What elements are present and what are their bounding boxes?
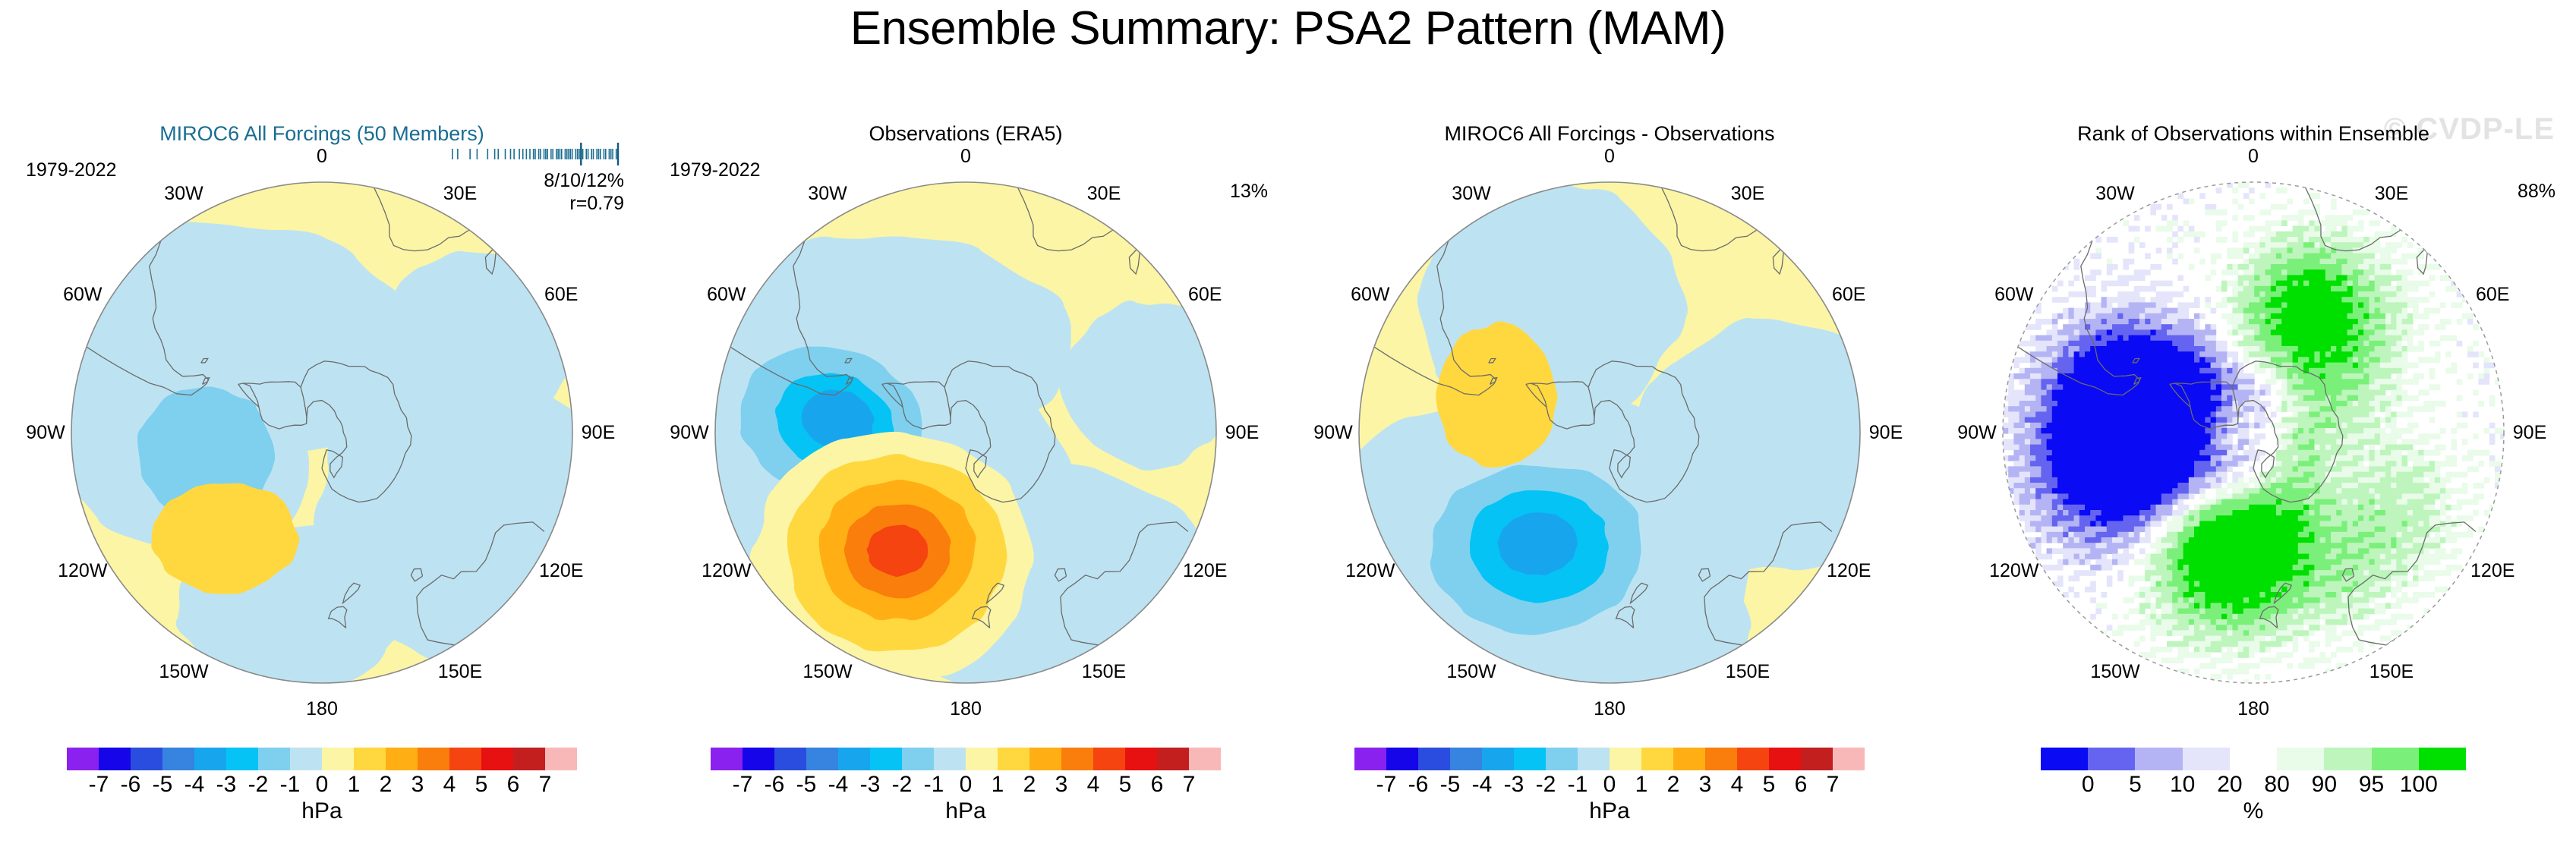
rank-cell bbox=[2336, 548, 2342, 554]
rank-cell bbox=[2309, 603, 2315, 609]
rank-cell bbox=[2243, 488, 2250, 494]
rank-cell bbox=[2369, 499, 2375, 505]
rank-cell bbox=[2057, 384, 2064, 390]
rank-cell bbox=[2254, 505, 2260, 511]
rank-cell bbox=[2413, 466, 2419, 472]
rank-cell bbox=[2347, 269, 2354, 276]
rank-cell bbox=[2380, 313, 2386, 320]
rank-cell bbox=[2276, 231, 2282, 238]
map-plot bbox=[700, 167, 1231, 698]
colorbar-tick-label: 3 bbox=[411, 772, 424, 798]
rank-cell bbox=[2369, 515, 2375, 521]
rank-cell bbox=[2259, 286, 2265, 292]
rank-cell bbox=[2293, 390, 2299, 396]
rank-cell bbox=[2095, 379, 2101, 385]
rank-cell bbox=[2123, 439, 2129, 445]
colorbar-segment bbox=[1514, 748, 1546, 770]
rank-cell bbox=[2199, 472, 2206, 478]
rank-cell bbox=[2238, 445, 2244, 451]
rank-cell bbox=[2325, 510, 2332, 516]
rank-cell bbox=[2161, 297, 2168, 303]
rank-cell bbox=[2129, 406, 2135, 412]
rank-cell bbox=[2265, 505, 2272, 511]
rank-cell bbox=[2052, 423, 2058, 429]
rank-cell bbox=[2211, 341, 2217, 347]
rank-cell bbox=[2265, 537, 2272, 543]
rank-cell bbox=[2243, 450, 2250, 456]
rank-cell bbox=[2243, 247, 2250, 253]
rank-cell bbox=[2325, 275, 2332, 281]
rank-cell bbox=[2331, 363, 2337, 369]
rank-cell bbox=[2320, 341, 2326, 347]
rank-cell bbox=[2145, 527, 2151, 533]
rank-cell bbox=[2035, 363, 2042, 369]
colorbar-tick-label: 5 bbox=[1119, 772, 1132, 798]
rank-cell bbox=[2391, 395, 2397, 401]
rank-cell bbox=[2423, 515, 2429, 521]
rank-cell bbox=[2101, 554, 2108, 560]
rank-cell bbox=[2129, 488, 2135, 494]
rank-cell bbox=[2254, 587, 2260, 593]
rank-cell bbox=[2396, 461, 2402, 467]
rank-cell bbox=[2243, 242, 2250, 248]
rank-cell bbox=[2259, 597, 2265, 603]
rank-cell bbox=[2287, 472, 2293, 478]
rank-cell bbox=[2145, 395, 2151, 401]
rank-cell bbox=[2293, 423, 2299, 429]
rank-cell bbox=[2298, 477, 2304, 483]
rank-cell bbox=[2353, 308, 2359, 314]
rank-cell bbox=[2435, 461, 2441, 467]
rank-cell bbox=[2287, 324, 2293, 330]
rank-cell bbox=[2189, 341, 2195, 347]
rank-cell bbox=[2473, 493, 2479, 499]
rank-cell bbox=[2391, 483, 2397, 489]
rank-cell bbox=[2375, 548, 2381, 554]
rank-cell bbox=[2085, 483, 2091, 489]
rank-cell bbox=[2041, 521, 2047, 527]
rank-cell bbox=[2123, 461, 2129, 467]
rank-cell bbox=[2358, 226, 2364, 232]
rank-cell bbox=[2095, 499, 2101, 505]
rank-cell bbox=[2353, 237, 2359, 243]
rank-cell bbox=[2052, 521, 2058, 527]
rank-cell bbox=[2112, 532, 2118, 538]
rank-cell bbox=[2079, 411, 2086, 417]
colorbar-tick-label: -3 bbox=[1504, 772, 1524, 798]
rank-cell bbox=[2232, 253, 2238, 260]
rank-cell bbox=[2183, 537, 2190, 543]
rank-cell bbox=[2112, 281, 2118, 287]
rank-cell bbox=[2134, 461, 2140, 467]
rank-cell bbox=[2396, 341, 2402, 347]
rank-cell bbox=[2385, 515, 2392, 521]
rank-cell bbox=[2227, 581, 2233, 587]
rank-cell bbox=[2189, 231, 2195, 238]
rank-cell bbox=[2325, 603, 2332, 609]
rank-cell bbox=[2314, 368, 2320, 374]
rank-cell bbox=[2057, 428, 2064, 434]
rank-cell bbox=[2347, 351, 2354, 357]
rank-cell bbox=[2129, 499, 2135, 505]
rank-cell bbox=[2363, 253, 2369, 260]
rank-cell bbox=[2145, 351, 2151, 357]
rank-cell bbox=[2150, 411, 2156, 417]
rank-cell bbox=[2216, 346, 2222, 352]
rank-cell bbox=[2347, 461, 2354, 467]
rank-cell bbox=[2156, 499, 2162, 505]
rank-cell bbox=[2243, 499, 2250, 505]
rank-cell bbox=[2107, 559, 2113, 565]
rank-cell bbox=[2347, 411, 2354, 417]
rank-cell bbox=[2243, 417, 2250, 423]
rank-cell bbox=[2129, 521, 2135, 527]
rank-cell bbox=[2396, 324, 2402, 330]
rank-cell bbox=[2183, 548, 2190, 554]
rank-cell bbox=[2341, 384, 2347, 390]
rank-cell bbox=[2134, 324, 2140, 330]
rank-cell bbox=[2238, 423, 2244, 429]
rank-cell bbox=[2325, 335, 2332, 342]
rank-cell bbox=[2271, 559, 2277, 565]
rank-cell bbox=[2391, 575, 2397, 581]
rank-cell bbox=[2271, 488, 2277, 494]
rank-cell bbox=[2156, 226, 2162, 232]
rank-cell bbox=[2271, 575, 2277, 581]
rank-cell bbox=[2369, 302, 2375, 308]
rank-cell bbox=[2243, 423, 2250, 429]
rank-cell bbox=[2271, 237, 2277, 243]
rank-cell bbox=[2134, 363, 2140, 369]
rank-cell bbox=[2199, 341, 2206, 347]
rank-cell bbox=[2358, 570, 2364, 576]
rank-cell bbox=[2156, 493, 2162, 499]
rank-cell bbox=[2249, 264, 2255, 270]
rank-cell bbox=[2145, 269, 2151, 276]
rank-cell bbox=[2030, 543, 2036, 549]
rank-cell bbox=[2189, 428, 2195, 434]
rank-cell bbox=[2194, 565, 2200, 571]
rank-cell bbox=[2396, 291, 2402, 298]
rank-cell bbox=[2183, 368, 2190, 374]
rank-cell bbox=[2353, 455, 2359, 461]
rank-cell bbox=[2117, 363, 2124, 369]
rank-cell bbox=[2429, 384, 2436, 390]
rank-cell bbox=[2232, 231, 2238, 238]
rank-cell bbox=[2238, 527, 2244, 533]
rank-cell bbox=[2249, 384, 2255, 390]
rank-cell bbox=[2156, 483, 2162, 489]
rank-cell bbox=[2353, 313, 2359, 320]
rank-cell bbox=[2298, 247, 2304, 253]
rank-cell bbox=[2161, 597, 2168, 603]
rank-cell bbox=[2402, 521, 2408, 527]
rank-cell bbox=[2035, 373, 2042, 379]
rank-cell bbox=[2150, 472, 2156, 478]
rank-cell bbox=[2216, 483, 2222, 489]
rank-cell bbox=[2325, 231, 2332, 238]
rank-cell bbox=[2314, 259, 2320, 265]
rank-cell bbox=[2259, 433, 2265, 439]
rank-cell bbox=[2259, 537, 2265, 543]
rank-cell bbox=[2353, 259, 2359, 265]
rank-cell bbox=[2353, 390, 2359, 396]
rank-cell bbox=[2363, 308, 2369, 314]
rank-cell bbox=[2363, 554, 2369, 560]
rank-cell bbox=[2041, 423, 2047, 429]
rank-cell bbox=[2320, 445, 2326, 451]
rank-cell bbox=[2336, 313, 2342, 320]
rank-cell bbox=[2074, 291, 2080, 298]
rank-cell bbox=[2150, 609, 2156, 615]
rank-cell bbox=[2167, 532, 2173, 538]
rank-cell bbox=[2347, 537, 2354, 543]
rank-cell bbox=[2095, 461, 2101, 467]
rank-cell bbox=[2259, 603, 2265, 609]
rank-cell bbox=[2232, 565, 2238, 571]
colorbar-tick-label: -1 bbox=[280, 772, 301, 798]
rank-cell bbox=[2303, 346, 2310, 352]
rank-cell bbox=[2407, 286, 2414, 292]
rank-cell bbox=[2325, 368, 2332, 374]
rank-cell bbox=[2183, 521, 2190, 527]
rank-cell bbox=[2309, 341, 2315, 347]
rank-cell bbox=[2369, 505, 2375, 511]
rank-cell bbox=[2265, 401, 2272, 407]
rank-cell bbox=[2095, 477, 2101, 483]
colorbar-tick-label: -6 bbox=[121, 772, 141, 798]
rank-cell bbox=[2309, 253, 2315, 260]
rank-cell bbox=[2074, 488, 2080, 494]
rank-cell bbox=[2063, 499, 2069, 505]
rank-cell bbox=[2074, 308, 2080, 314]
rank-cell bbox=[2085, 493, 2091, 499]
rank-cell bbox=[2429, 433, 2436, 439]
rank-cell bbox=[2107, 324, 2113, 330]
rank-cell bbox=[2298, 297, 2304, 303]
rank-cell bbox=[2341, 281, 2347, 287]
rank-cell bbox=[2019, 417, 2026, 423]
rank-cell bbox=[2194, 302, 2200, 308]
rank-cell bbox=[2019, 373, 2026, 379]
rank-cell bbox=[2249, 341, 2255, 347]
rank-cell bbox=[2375, 401, 2381, 407]
colorbar-segment bbox=[449, 748, 481, 770]
rank-cell bbox=[2134, 313, 2140, 320]
rank-cell bbox=[2314, 570, 2320, 576]
rank-cell bbox=[2112, 559, 2118, 565]
rank-cell bbox=[2375, 505, 2381, 511]
rank-cell bbox=[2085, 373, 2091, 379]
rank-cell bbox=[2117, 335, 2124, 342]
rank-cell bbox=[2129, 308, 2135, 314]
rank-cell bbox=[2025, 455, 2031, 461]
rank-cell bbox=[2101, 565, 2108, 571]
rank-cell bbox=[2331, 472, 2337, 478]
rank-cell bbox=[2145, 559, 2151, 565]
rank-cell bbox=[2287, 466, 2293, 472]
rank-cell bbox=[2341, 587, 2347, 593]
rank-cell bbox=[2194, 455, 2200, 461]
rank-cell bbox=[2216, 220, 2222, 226]
rank-cell bbox=[2139, 275, 2146, 281]
rank-cell bbox=[2216, 187, 2222, 194]
rank-cell bbox=[2205, 575, 2211, 581]
rank-cell bbox=[2145, 445, 2151, 451]
rank-cell bbox=[2375, 455, 2381, 461]
rank-cell bbox=[2068, 483, 2074, 489]
rank-cell bbox=[2030, 363, 2036, 369]
rank-cell bbox=[2440, 587, 2446, 593]
rank-cell bbox=[2336, 554, 2342, 560]
rank-cell bbox=[2320, 575, 2326, 581]
rank-cell bbox=[2407, 515, 2414, 521]
rank-cell bbox=[2232, 450, 2238, 456]
rank-cell bbox=[2281, 417, 2288, 423]
rank-cell bbox=[2145, 368, 2151, 374]
rank-cell bbox=[2205, 368, 2211, 374]
rank-cell bbox=[2232, 341, 2238, 347]
rank-cell bbox=[2303, 319, 2310, 325]
rank-cell bbox=[2457, 548, 2463, 554]
rank-cell bbox=[2052, 499, 2058, 505]
rank-cell bbox=[2265, 351, 2272, 357]
rank-cell bbox=[2341, 329, 2347, 335]
rank-cell bbox=[2117, 466, 2124, 472]
rank-cell bbox=[2309, 302, 2315, 308]
rank-cell bbox=[2265, 237, 2272, 243]
rank-cell bbox=[2358, 472, 2364, 478]
rank-cell bbox=[2107, 357, 2113, 363]
rank-cell bbox=[2129, 247, 2135, 253]
rank-cell bbox=[2298, 346, 2304, 352]
rank-cell bbox=[2199, 543, 2206, 549]
rank-cell bbox=[2123, 379, 2129, 385]
rank-cell bbox=[2331, 499, 2337, 505]
lon-label-150w: 150W bbox=[159, 661, 208, 682]
rank-cell bbox=[2205, 505, 2211, 511]
rank-cell bbox=[2363, 363, 2369, 369]
rank-cell bbox=[2047, 357, 2053, 363]
rank-cell bbox=[2418, 253, 2424, 260]
rank-cell bbox=[2145, 341, 2151, 347]
rank-cell bbox=[2336, 493, 2342, 499]
rank-cell bbox=[2391, 472, 2397, 478]
rank-cell bbox=[2418, 532, 2424, 538]
rank-cell bbox=[2107, 346, 2113, 352]
rank-cell bbox=[2227, 439, 2233, 445]
rank-cell bbox=[2095, 603, 2101, 609]
rank-cell bbox=[2375, 335, 2381, 342]
rank-cell bbox=[2205, 406, 2211, 412]
rank-cell bbox=[2303, 570, 2310, 576]
rank-cell bbox=[2172, 220, 2178, 226]
rank-cell bbox=[2107, 466, 2113, 472]
rank-cell bbox=[2117, 324, 2124, 330]
rank-cell bbox=[2276, 554, 2282, 560]
rank-cell bbox=[2435, 384, 2441, 390]
rank-cell bbox=[2320, 368, 2326, 374]
rank-cell bbox=[2221, 493, 2228, 499]
rank-cell bbox=[2440, 548, 2446, 554]
rank-cell bbox=[2205, 521, 2211, 527]
rank-cell bbox=[2183, 455, 2190, 461]
rank-cell bbox=[2429, 592, 2436, 598]
rank-cell bbox=[2385, 281, 2392, 287]
rank-cell bbox=[2112, 237, 2118, 243]
rank-cell bbox=[2402, 527, 2408, 533]
rank-cell bbox=[2041, 565, 2047, 571]
rank-cell bbox=[2341, 308, 2347, 314]
rank-cell bbox=[2177, 390, 2183, 396]
rank-cell bbox=[2052, 450, 2058, 456]
rank-cell bbox=[2117, 291, 2124, 298]
rank-cell bbox=[2336, 384, 2342, 390]
rank-cell bbox=[2276, 390, 2282, 396]
rank-cell bbox=[2336, 581, 2342, 587]
rank-cell bbox=[2090, 466, 2096, 472]
rank-cell bbox=[2019, 411, 2026, 417]
rank-cell bbox=[2030, 384, 2036, 390]
rank-cell bbox=[2265, 269, 2272, 276]
rank-cell bbox=[2380, 587, 2386, 593]
rank-cell bbox=[2336, 505, 2342, 511]
rank-cell bbox=[2052, 527, 2058, 533]
rank-cell bbox=[2363, 570, 2369, 576]
rank-cell bbox=[2259, 423, 2265, 429]
rank-cell bbox=[2309, 433, 2315, 439]
rank-cell bbox=[2134, 406, 2140, 412]
rank-cell bbox=[2325, 329, 2332, 335]
rank-cell bbox=[2161, 302, 2168, 308]
rank-cell bbox=[2101, 329, 2108, 335]
rank-cell bbox=[2341, 346, 2347, 352]
rank-cell bbox=[2134, 515, 2140, 521]
rank-cell bbox=[2238, 204, 2244, 210]
rank-cell bbox=[2145, 423, 2151, 429]
rank-cell bbox=[2396, 308, 2402, 314]
rank-cell bbox=[2457, 488, 2463, 494]
rank-cell bbox=[2101, 411, 2108, 417]
rank-cell bbox=[2413, 510, 2419, 516]
rank-cell bbox=[2363, 324, 2369, 330]
rank-cell bbox=[2139, 368, 2146, 374]
rank-cell bbox=[2150, 406, 2156, 412]
rank-cell bbox=[2035, 477, 2042, 483]
rank-cell bbox=[2243, 543, 2250, 549]
rank-cell bbox=[2112, 461, 2118, 467]
rank-cell bbox=[2293, 537, 2299, 543]
rank-cell bbox=[2336, 587, 2342, 593]
rank-cell bbox=[2385, 455, 2392, 461]
rank-cell bbox=[2293, 275, 2299, 281]
rank-cell bbox=[2391, 401, 2397, 407]
rank-cell bbox=[2298, 302, 2304, 308]
rank-cell bbox=[2309, 575, 2315, 581]
rank-cell bbox=[2112, 313, 2118, 320]
rank-cell bbox=[2057, 363, 2064, 369]
rank-cell bbox=[2413, 565, 2419, 571]
rank-cell bbox=[2156, 428, 2162, 434]
rank-cell bbox=[2177, 423, 2183, 429]
rank-cell bbox=[2079, 554, 2086, 560]
rank-cell bbox=[2478, 401, 2484, 407]
rank-cell bbox=[2281, 215, 2288, 221]
rank-cell bbox=[2150, 603, 2156, 609]
colorbar-segment bbox=[838, 748, 870, 770]
rank-cell bbox=[2341, 319, 2347, 325]
rank-cell bbox=[2068, 324, 2074, 330]
